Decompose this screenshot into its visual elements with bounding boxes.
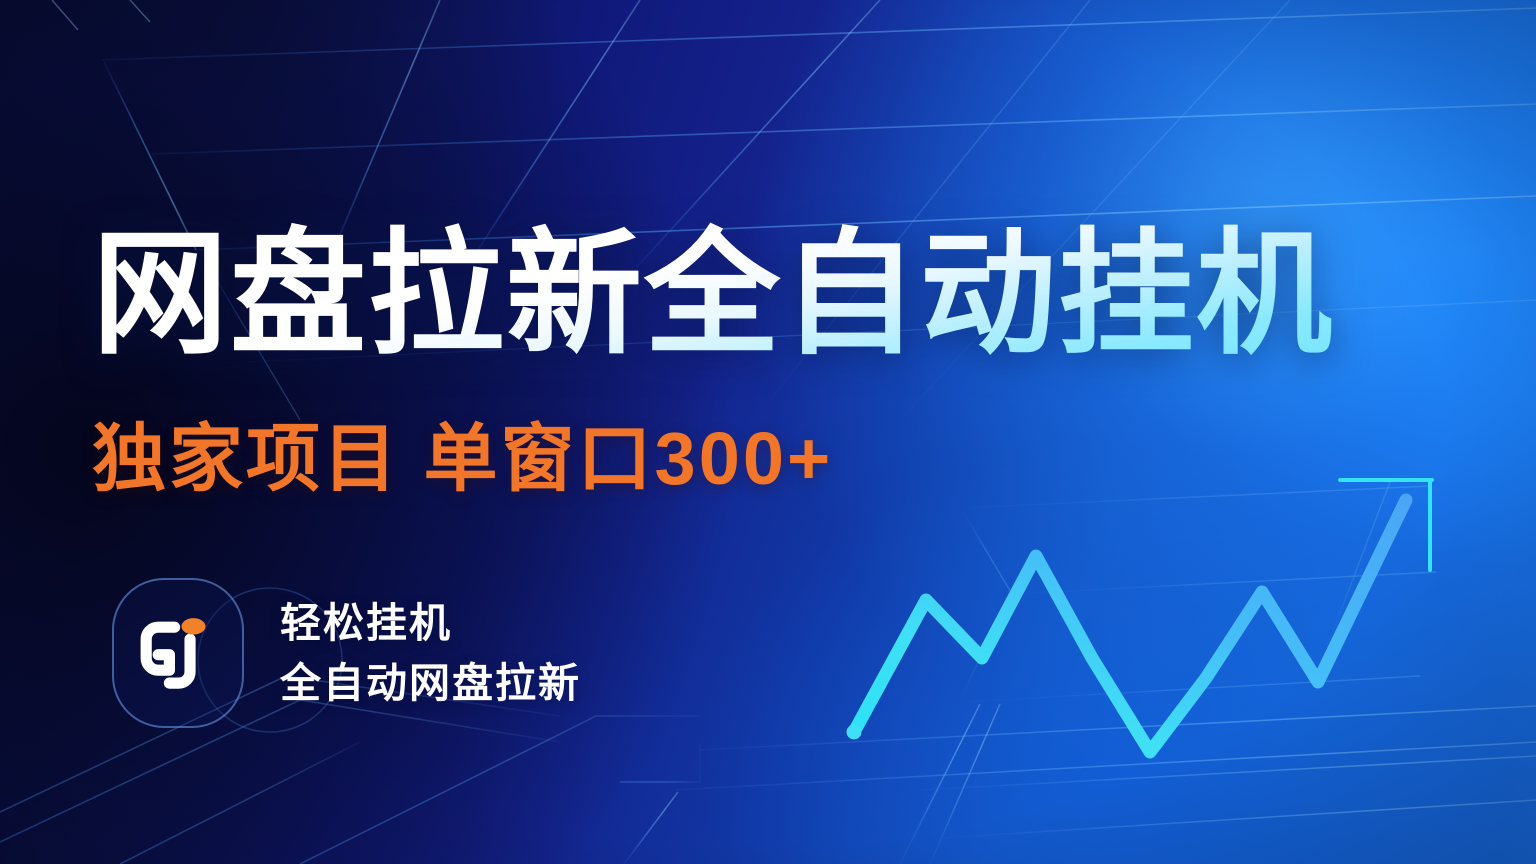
promo-banner: 网盘拉新全自动挂机 独家项目 单窗口300+ 轻松挂机 全自动网盘拉新 (0, 0, 1536, 864)
orange-dot-icon (181, 618, 205, 634)
gj-monogram-icon (135, 610, 221, 696)
tagline-line-2: 全自动网盘拉新 (280, 658, 581, 708)
growth-line-chart-icon (840, 440, 1480, 770)
tagline-line-1: 轻松挂机 (280, 598, 581, 648)
headline-block: 网盘拉新全自动挂机 (92, 222, 1452, 366)
brand-block: 轻松挂机 全自动网盘拉新 (112, 578, 581, 728)
chart-start-marker (847, 725, 862, 740)
tagline-block: 轻松挂机 全自动网盘拉新 (280, 598, 581, 708)
subtitle-text: 独家项目 单窗口300+ (92, 418, 833, 499)
logo-badge (112, 578, 244, 728)
page-title: 网盘拉新全自动挂机 (92, 222, 1452, 366)
corner-bracket-icon (1340, 480, 1432, 570)
